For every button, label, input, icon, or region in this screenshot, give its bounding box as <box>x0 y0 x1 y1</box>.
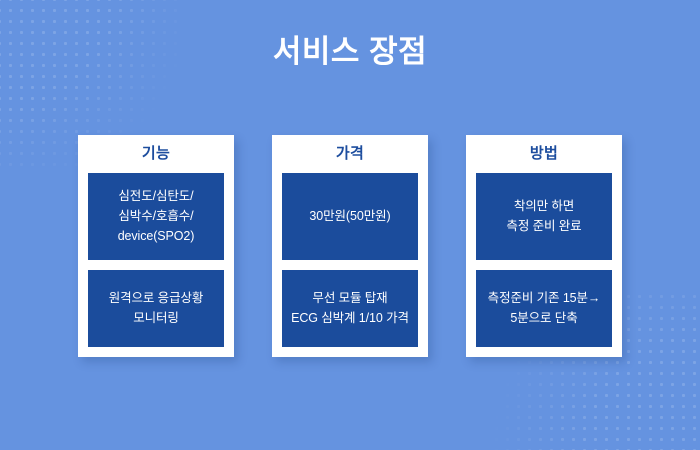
benefit-card-function: 기능 심전도/심탄도/ 심박수/호흡수/ device(SPO2) 원격으로 응… <box>78 135 234 357</box>
card-top-box-price: 30만원(50만원) <box>282 173 418 260</box>
card-top-box-line: 착의만 하면 <box>506 196 581 216</box>
slide-root: 서비스 장점 기능 심전도/심탄도/ 심박수/호흡수/ device(SPO2)… <box>0 0 700 450</box>
card-bottom-box-line: ECG 심박계 1/10 가격 <box>291 308 409 328</box>
card-top-box-function: 심전도/심탄도/ 심박수/호흡수/ device(SPO2) <box>88 173 224 260</box>
card-header-method: 방법 <box>530 135 558 173</box>
benefit-card-price: 가격 30만원(50만원) 무선 모듈 탑재 ECG 심박계 1/10 가격 <box>272 135 428 357</box>
card-bottom-box-line: 모니터링 <box>109 308 204 328</box>
card-top-box-method: 착의만 하면 측정 준비 완료 <box>476 173 612 260</box>
card-top-box-line: 30만원(50만원) <box>309 206 390 226</box>
card-bottom-box-line: 무선 모듈 탑재 <box>291 288 409 308</box>
card-bottom-box-price: 무선 모듈 탑재 ECG 심박계 1/10 가격 <box>282 270 418 347</box>
card-header-function: 기능 <box>142 135 170 173</box>
card-top-box-line: 측정 준비 완료 <box>506 216 581 236</box>
card-bottom-box-function: 원격으로 응급상황 모니터링 <box>88 270 224 347</box>
card-bottom-box-line: 원격으로 응급상황 <box>109 288 204 308</box>
card-top-box-line: 심박수/호흡수/ <box>118 206 195 226</box>
card-top-box-line: device(SPO2) <box>118 226 195 246</box>
benefit-cards-row: 기능 심전도/심탄도/ 심박수/호흡수/ device(SPO2) 원격으로 응… <box>78 135 622 357</box>
card-bottom-box-line: 측정준비 기존 15분→ <box>488 288 601 308</box>
card-header-price: 가격 <box>336 135 364 173</box>
card-bottom-box-method: 측정준비 기존 15분→ 5분으로 단축 <box>476 270 612 347</box>
page-title: 서비스 장점 <box>0 33 700 70</box>
card-bottom-box-line: 5분으로 단축 <box>488 308 601 328</box>
benefit-card-method: 방법 착의만 하면 측정 준비 완료 측정준비 기존 15분→ 5분으로 단축 <box>466 135 622 357</box>
card-top-box-line: 심전도/심탄도/ <box>118 186 195 206</box>
